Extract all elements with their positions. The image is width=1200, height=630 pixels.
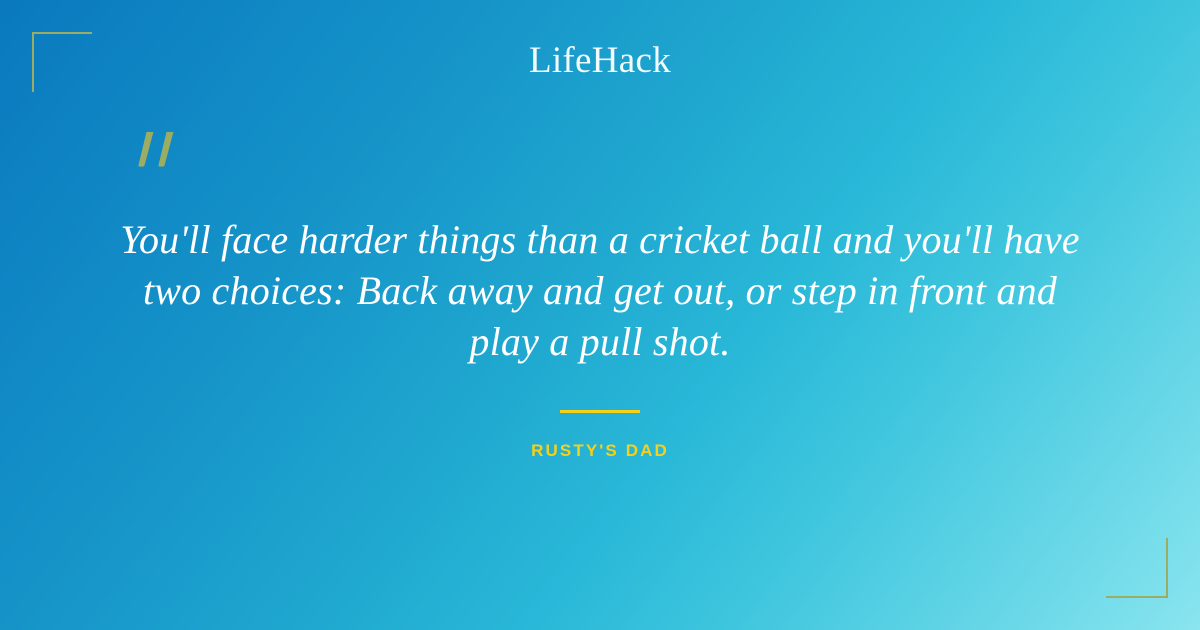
quote-line: two choices: Back away and get out, or s… bbox=[95, 265, 1105, 316]
corner-bracket-vertical-line bbox=[1166, 538, 1168, 598]
corner-bracket-bottom-right-icon bbox=[1106, 538, 1168, 598]
quote-line: You'll face harder things than a cricket… bbox=[95, 214, 1105, 265]
corner-bracket-horizontal-line bbox=[1106, 596, 1168, 598]
quotation-mark-icon bbox=[128, 128, 198, 198]
attribution-author: RUSTY'S DAD bbox=[0, 441, 1200, 461]
attribution-divider bbox=[560, 410, 640, 413]
brand-logo: LifeHack bbox=[0, 39, 1200, 83]
corner-bracket-horizontal-line bbox=[32, 32, 92, 34]
quote-card: LifeHack You'll face harder things than … bbox=[0, 0, 1200, 630]
quote-text: You'll face harder things than a cricket… bbox=[95, 214, 1105, 367]
quote-line: play a pull shot. bbox=[95, 316, 1105, 367]
